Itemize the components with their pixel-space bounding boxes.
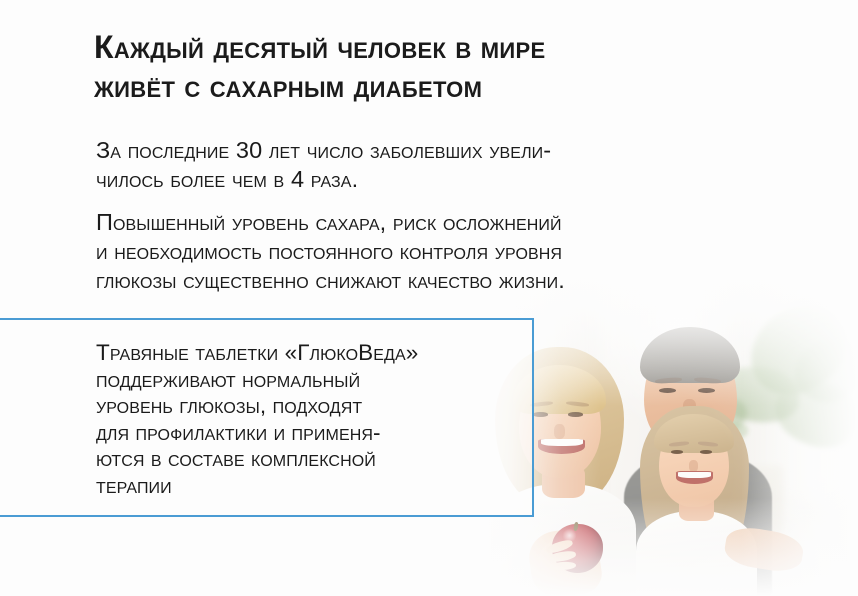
stat-paragraph-line-1: За последние 30 лет число заболевших уве… [96, 137, 551, 163]
content-layer: Каждый десятый человек в мире живёт с са… [0, 0, 858, 596]
callout-line-1: Травяные таблетки «ГлюкоВеда» [96, 340, 536, 367]
callout-line-6: терапии [96, 473, 536, 500]
page-title: Каждый десятый человек в мире живёт с са… [94, 28, 794, 106]
risk-paragraph-line-2: и необходимость постоянного контроля уро… [96, 238, 562, 264]
risk-paragraph: Повышенный уровень сахара, риск осложнен… [96, 208, 786, 295]
headline-line-1: Каждый десятый человек в мире [94, 29, 545, 65]
stat-paragraph: За последние 30 лет число заболевших уве… [96, 136, 786, 194]
callout-line-4: для профилактики и применя- [96, 420, 536, 447]
stat-paragraph-line-2: чилось более чем в 4 раза. [96, 166, 358, 192]
callout-line-2: поддерживают нормальный [96, 367, 536, 394]
risk-paragraph-line-3: глюкозы существенно снижают качество жиз… [96, 267, 565, 293]
product-callout-text: Травяные таблетки «ГлюкоВеда» поддержива… [96, 340, 536, 499]
slide-canvas: Каждый десятый человек в мире живёт с са… [0, 0, 858, 596]
callout-line-3: уровень глюкозы, подходят [96, 393, 536, 420]
headline-line-2: живёт с сахарным диабетом [94, 68, 482, 104]
risk-paragraph-line-1: Повышенный уровень сахара, риск осложнен… [96, 209, 562, 235]
callout-line-5: ются в составе комплексной [96, 446, 536, 473]
